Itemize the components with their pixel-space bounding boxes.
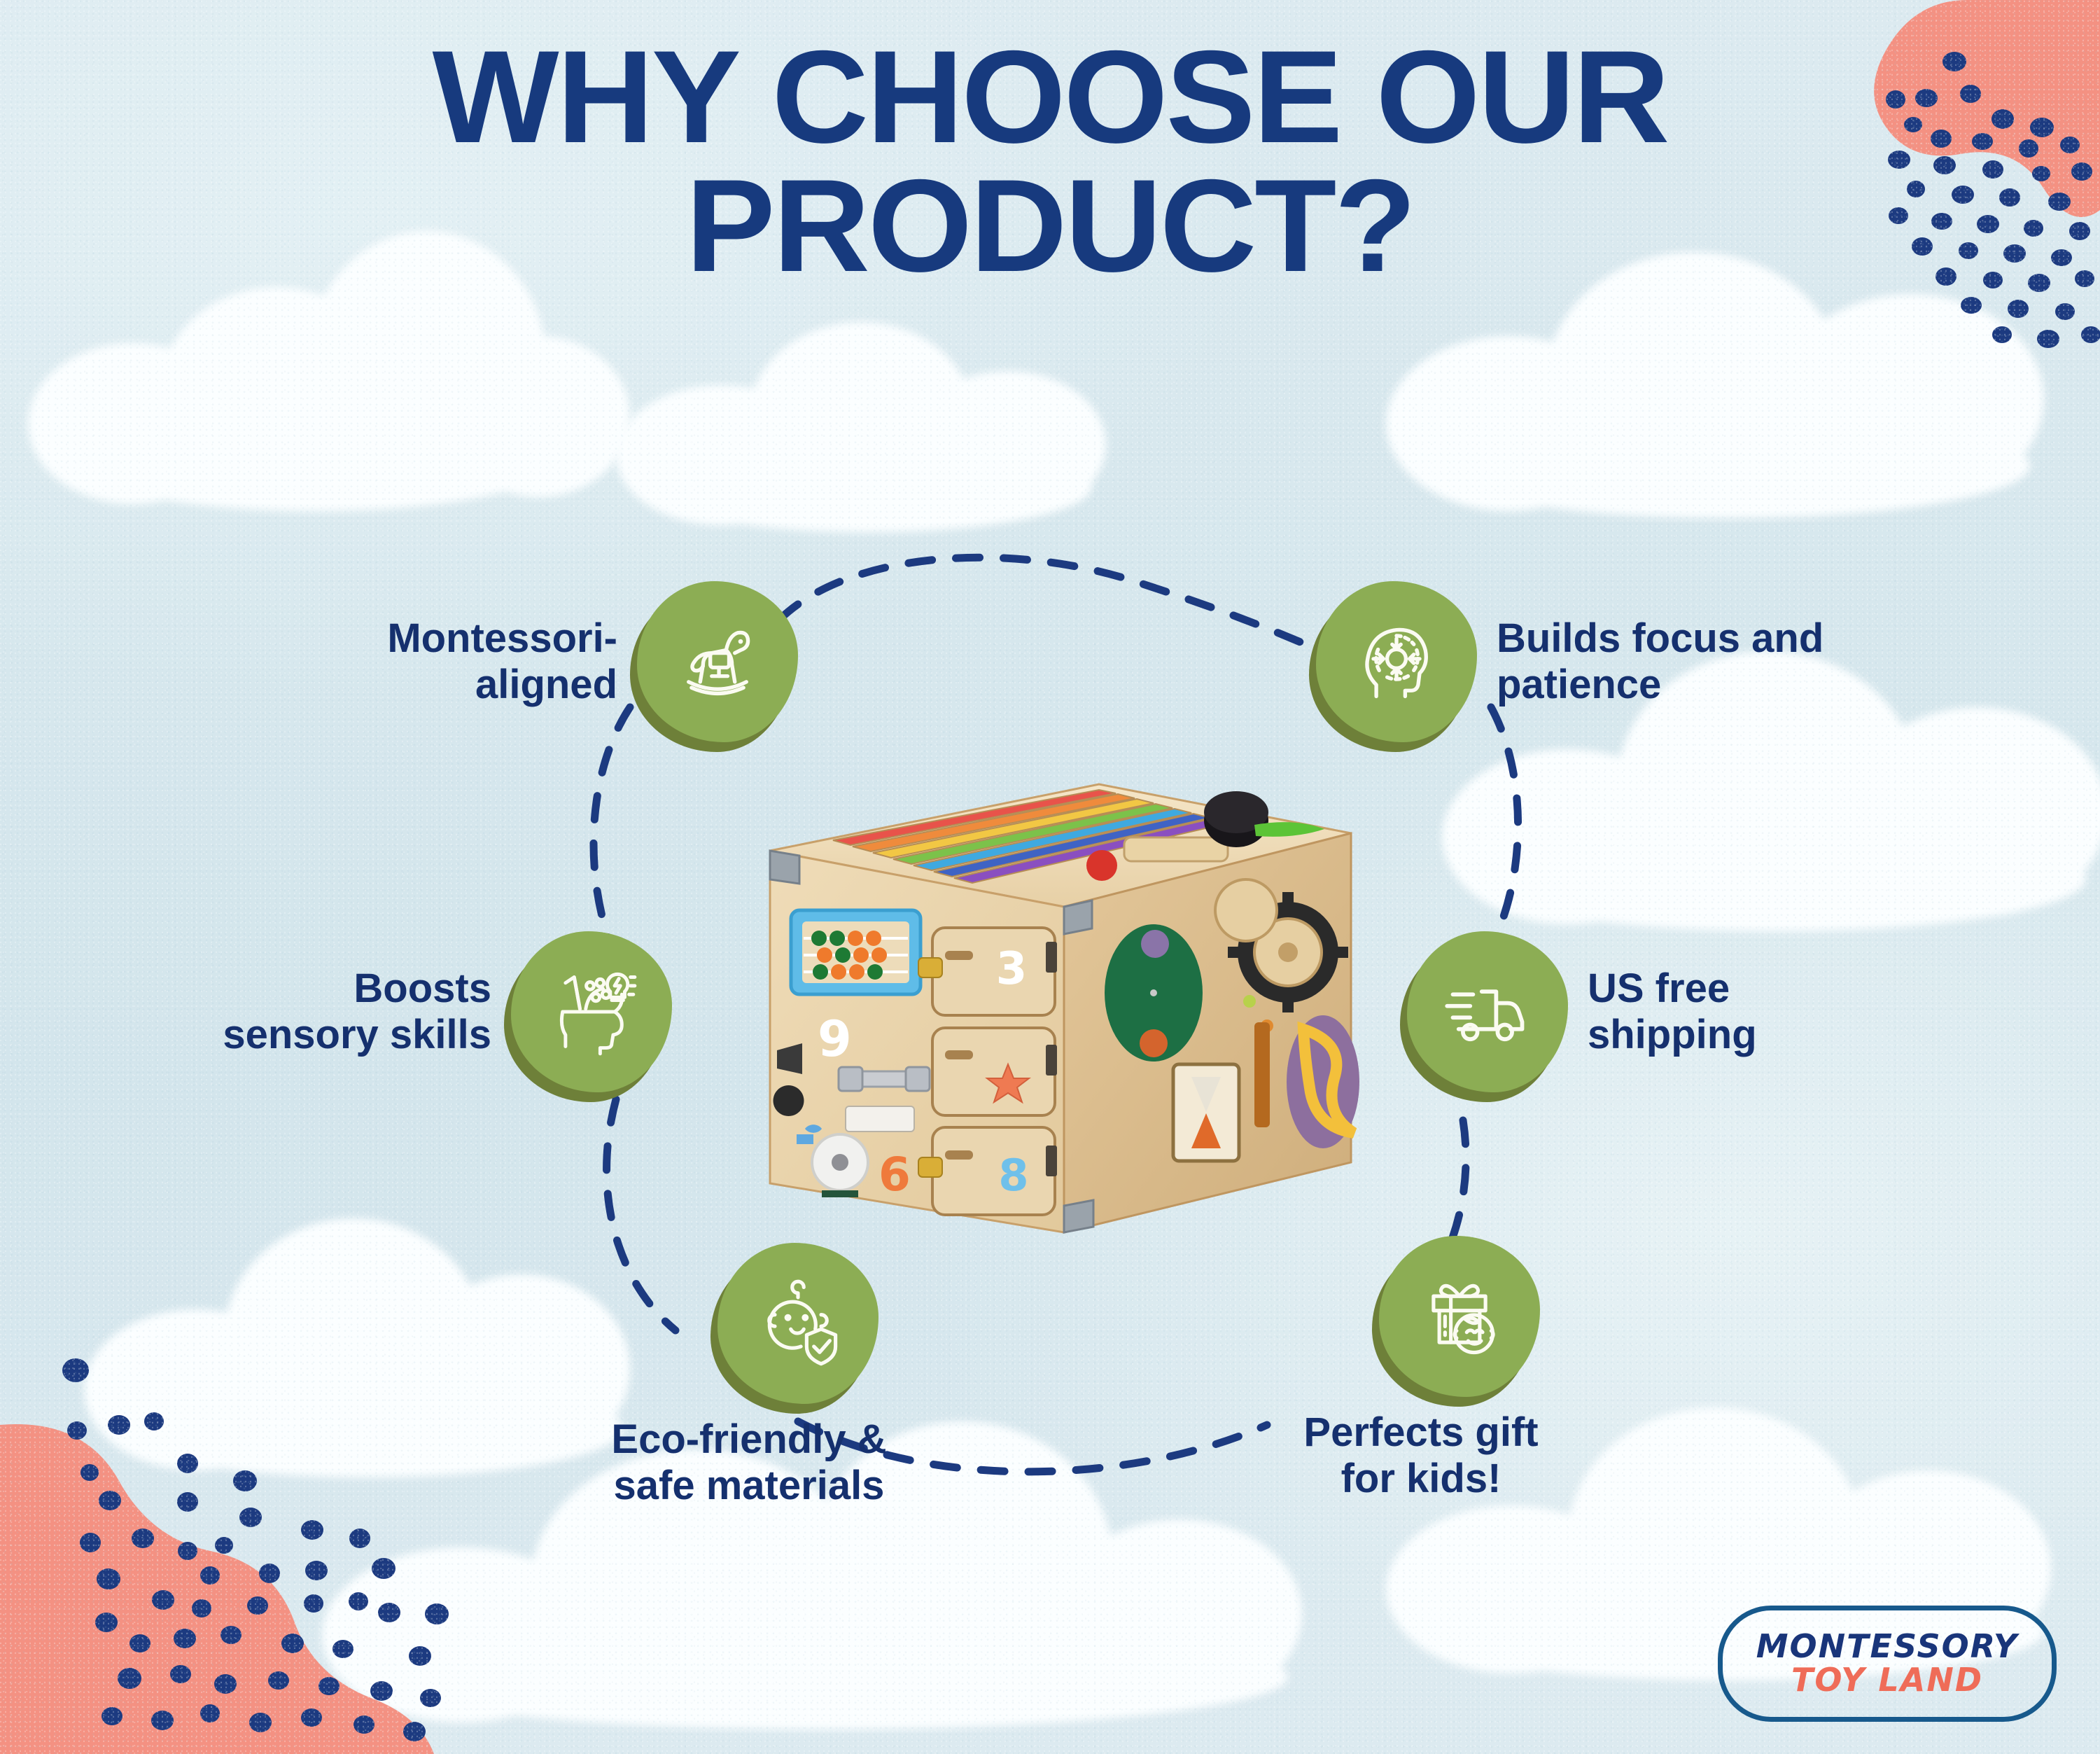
title-line-1: WHY CHOOSE OUR [433, 23, 1668, 170]
logo-line-1: MONTESSORY [1756, 1630, 2018, 1663]
head-focus-icon [1350, 615, 1443, 708]
feature-eco-friendly[interactable]: Eco-friendly & safe materials [532, 1243, 966, 1509]
svg-text:3: 3 [996, 943, 1028, 995]
badge-disc [1407, 931, 1568, 1092]
feature-badge-us-free-shipping[interactable] [1407, 931, 1568, 1092]
feature-montessori-aligned[interactable]: Montessori- aligned [294, 581, 798, 742]
creative-head-icon [545, 966, 638, 1058]
feature-label-sensory-skills: Boosts sensory skills [223, 966, 511, 1058]
feature-label-perfect-gift: Perfects gift for kids! [1218, 1397, 1624, 1502]
product-image-montessori-busy-cube: 3 8 9 6 [735, 700, 1365, 1260]
delivery-truck-icon [1441, 966, 1534, 1058]
feature-badge-montessori-aligned[interactable] [637, 581, 798, 742]
page-title: WHY CHOOSE OUR PRODUCT? [0, 32, 2100, 290]
svg-text:8: 8 [998, 1150, 1028, 1201]
badge-disc [637, 581, 798, 742]
feature-badge-sensory-skills[interactable] [511, 931, 672, 1092]
gift-baby-icon [1413, 1270, 1506, 1363]
corner-decor-bottom-left [0, 1320, 490, 1754]
feature-perfect-gift[interactable]: Perfects gift for kids! [1218, 1236, 1624, 1502]
badge-disc [1379, 1236, 1540, 1397]
feature-label-us-free-shipping: US free shipping [1568, 966, 1757, 1058]
rocking-horse-icon [671, 615, 764, 708]
brand-logo[interactable]: MONTESSORY TOY LAND [1718, 1606, 2057, 1722]
feature-us-free-shipping[interactable]: US free shipping [1407, 931, 2037, 1092]
infographic-poster: WHY CHOOSE OUR PRODUCT? [0, 0, 2100, 1754]
svg-text:6: 6 [878, 1148, 911, 1202]
feature-label-montessori-aligned: Montessori- aligned [387, 615, 637, 708]
feature-sensory-skills[interactable]: Boosts sensory skills [112, 931, 672, 1092]
cloud-top-mid [616, 301, 1120, 511]
feature-badge-builds-focus[interactable] [1316, 581, 1477, 742]
title-line-2: PRODUCT? [0, 161, 2100, 290]
logo-line-2: TOY LAND [1791, 1663, 1983, 1697]
badge-disc [1316, 581, 1477, 742]
svg-text:9: 9 [818, 1010, 852, 1068]
feature-label-builds-focus: Builds focus and patience [1477, 615, 1823, 708]
badge-disc [511, 931, 672, 1092]
feature-badge-perfect-gift[interactable] [1379, 1236, 1540, 1397]
feature-label-eco-friendly: Eco-friendly & safe materials [532, 1404, 966, 1509]
feature-builds-focus[interactable]: Builds focus and patience [1316, 581, 1946, 742]
baby-shield-icon [752, 1277, 844, 1370]
feature-badge-eco-friendly[interactable] [717, 1243, 878, 1404]
badge-disc [717, 1243, 878, 1404]
